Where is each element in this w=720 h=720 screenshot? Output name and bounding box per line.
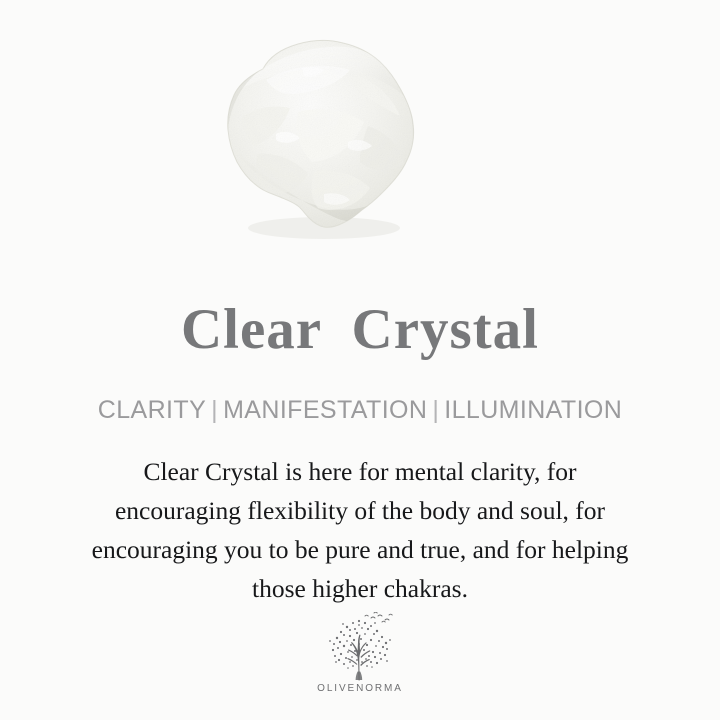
birds-icon — [365, 612, 392, 622]
clear-crystal-stone-image — [206, 22, 441, 254]
description-line-2: encouraging flexibility of the body and … — [35, 491, 685, 530]
keyword-illumination: ILLUMINATION — [444, 396, 622, 424]
crystal-info-card: Clear Crystal CLARITY|MANIFESTATION|ILLU… — [0, 0, 720, 720]
page-title: Clear Crystal — [0, 296, 720, 363]
brand-name: OLIVENORMA — [0, 683, 720, 694]
keyword-manifestation: MANIFESTATION — [223, 396, 427, 424]
crystal-illustration — [206, 22, 441, 254]
crystal-facets — [206, 22, 441, 254]
tree-canopy-stipple — [329, 620, 391, 669]
keyword-clarity: CLARITY — [98, 396, 206, 424]
description-paragraph: Clear Crystal is here for mental clarity… — [35, 452, 685, 608]
keyword-list: CLARITY|MANIFESTATION|ILLUMINATION — [0, 395, 720, 425]
keyword-separator-1: | — [206, 396, 223, 424]
hero-image-area — [0, 0, 720, 275]
description-line-3: encouraging you to be pure and true, and… — [35, 530, 685, 569]
olive-tree-icon — [317, 612, 403, 682]
description-line-4: those higher chakras. — [35, 569, 685, 608]
keyword-separator-2: | — [427, 396, 444, 424]
description-line-1: Clear Crystal is here for mental clarity… — [35, 452, 685, 491]
brand-logo: OLIVENORMA — [0, 612, 720, 694]
